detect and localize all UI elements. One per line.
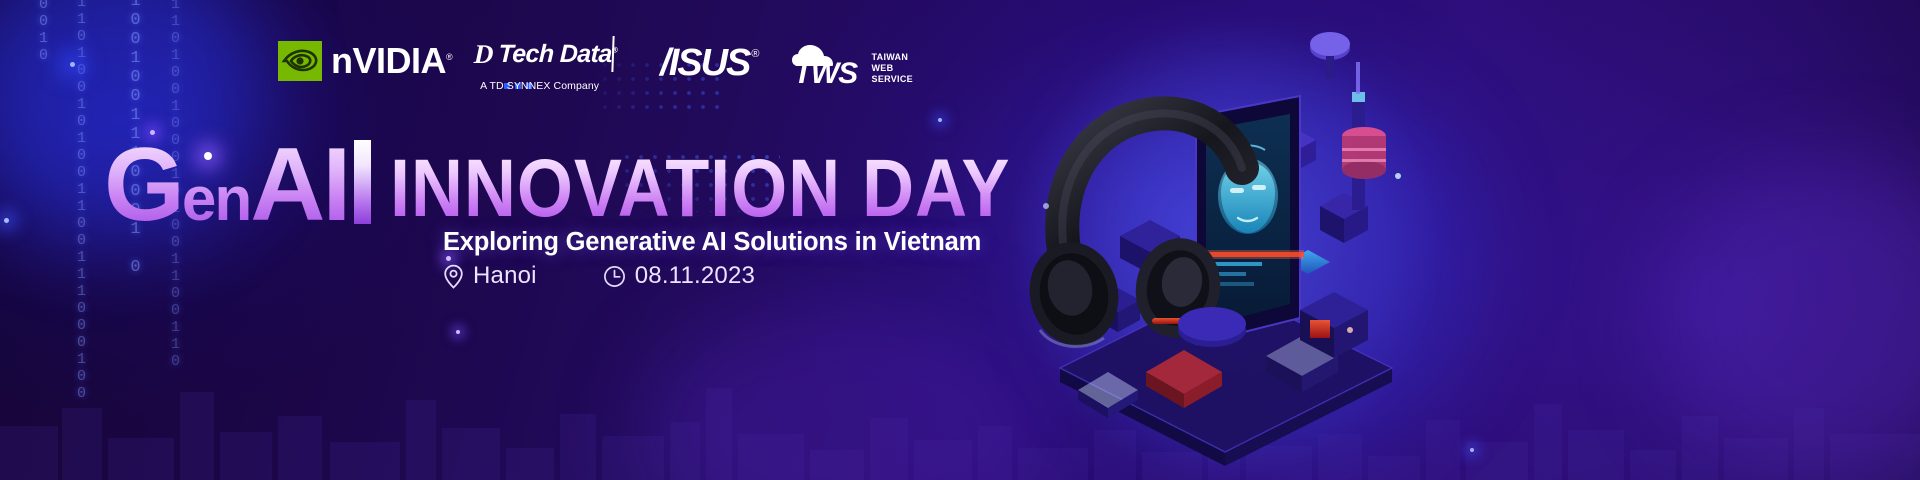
genai-suffix: AI: [250, 127, 348, 243]
nvidia-wordmark: nVIDIA®: [331, 43, 452, 79]
genai-prefix: G: [104, 127, 182, 243]
city-skyline-silhouette: [0, 330, 1920, 480]
headline-main: INNOVATION DAY: [390, 152, 1010, 226]
event-date-value: 08.11.2023: [635, 262, 755, 290]
nvidia-trademark: ®: [446, 52, 452, 62]
glow-right-edge: [1660, 160, 1920, 480]
event-location: Hanoi: [443, 262, 537, 290]
tws-sub-line: WEB: [872, 63, 913, 74]
tws-wordmark: TWS: [794, 59, 858, 89]
binary-rail: 110100101001100111000100: [74, 0, 89, 402]
event-location-value: Hanoi: [473, 262, 537, 290]
tech-data-monogram: D: [474, 41, 494, 68]
tws-sub-line: SERVICE: [872, 74, 913, 85]
binary-rail: 0010: [36, 0, 51, 64]
headline: GenAI INNOVATION DAY: [104, 140, 1095, 232]
nvidia-logo: nVIDIA®: [278, 41, 452, 81]
asus-logo: /ISUS ®: [660, 44, 759, 82]
sparkle-dot: [938, 118, 942, 122]
genai-brandmark: GenAI: [104, 140, 348, 232]
tech-data-trademark: ®: [612, 45, 618, 54]
genai-small: en: [182, 165, 250, 234]
sparkle-dot: [1470, 448, 1474, 452]
sparkle-dot: [456, 330, 460, 334]
event-meta-row: Hanoi 08.11.2023: [443, 262, 755, 290]
sparkle-dot: [70, 62, 75, 67]
genai-innovation-day-banner: 0010 110100101001100111000100 1001001110…: [0, 0, 1920, 480]
event-date: 08.11.2023: [603, 262, 755, 290]
ai-tech-isometric-illustration: [1000, 0, 1460, 480]
clock-icon: [603, 265, 626, 288]
tws-logo: TWS TAIWAN WEB SERVICE: [790, 42, 913, 88]
tws-sub-line: TAIWAN: [872, 52, 913, 63]
tws-mark: TWS: [790, 42, 866, 88]
tech-data-logo: D Tech Data® A TD SYNNEX Company: [474, 36, 614, 94]
asus-trademark: ®: [751, 48, 759, 60]
tech-data-wordmark: Tech Data®: [498, 42, 617, 67]
nvidia-eye-icon: [278, 41, 322, 81]
headline-divider-bar: [354, 140, 371, 224]
sparkle-dot: [4, 218, 9, 223]
tech-data-tagline: A TD SYNNEX Company: [480, 80, 599, 92]
location-pin-icon: [443, 264, 464, 289]
tws-sub-lines: TAIWAN WEB SERVICE: [872, 52, 913, 85]
glow-center: [640, 300, 1060, 480]
server-racks: [1342, 127, 1386, 179]
asus-wordmark: /ISUS: [660, 44, 749, 82]
page-subtitle: Exploring Generative AI Solutions in Vie…: [443, 228, 981, 257]
sponsor-logo-row: nVIDIA® D Tech Data® A TD SYNNEX Company…: [278, 36, 913, 94]
